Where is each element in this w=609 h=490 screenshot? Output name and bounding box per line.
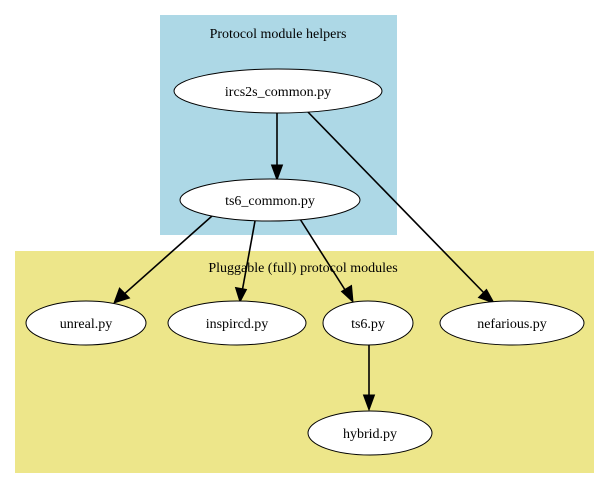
node-unreal[interactable]: unreal.py [26,301,146,345]
cluster-pluggable-label: Pluggable (full) protocol modules [208,261,397,276]
cluster-helpers-label: Protocol module helpers [210,27,347,42]
node-nefarious[interactable]: nefarious.py [440,301,584,345]
node-label: ts6.py [351,317,385,332]
node-label: inspircd.py [206,317,269,332]
node-label: ts6_common.py [225,194,315,209]
node-label: ircs2s_common.py [225,85,331,100]
node-ts6[interactable]: ts6.py [323,301,413,345]
node-inspircd[interactable]: inspircd.py [168,301,306,345]
node-label: unreal.py [60,317,112,332]
node-ircs2s_common[interactable]: ircs2s_common.py [174,69,382,113]
node-label: hybrid.py [343,427,397,442]
node-label: nefarious.py [477,317,547,332]
graph-svg: Protocol module helpers Pluggable (full)… [0,0,609,490]
node-hybrid[interactable]: hybrid.py [308,411,432,455]
cluster-pluggable-box [15,251,594,473]
diagram-canvas: Protocol module helpers Pluggable (full)… [0,0,609,490]
node-ts6_common[interactable]: ts6_common.py [180,179,360,221]
cluster-pluggable-protocol-modules: Pluggable (full) protocol modules [15,251,594,473]
